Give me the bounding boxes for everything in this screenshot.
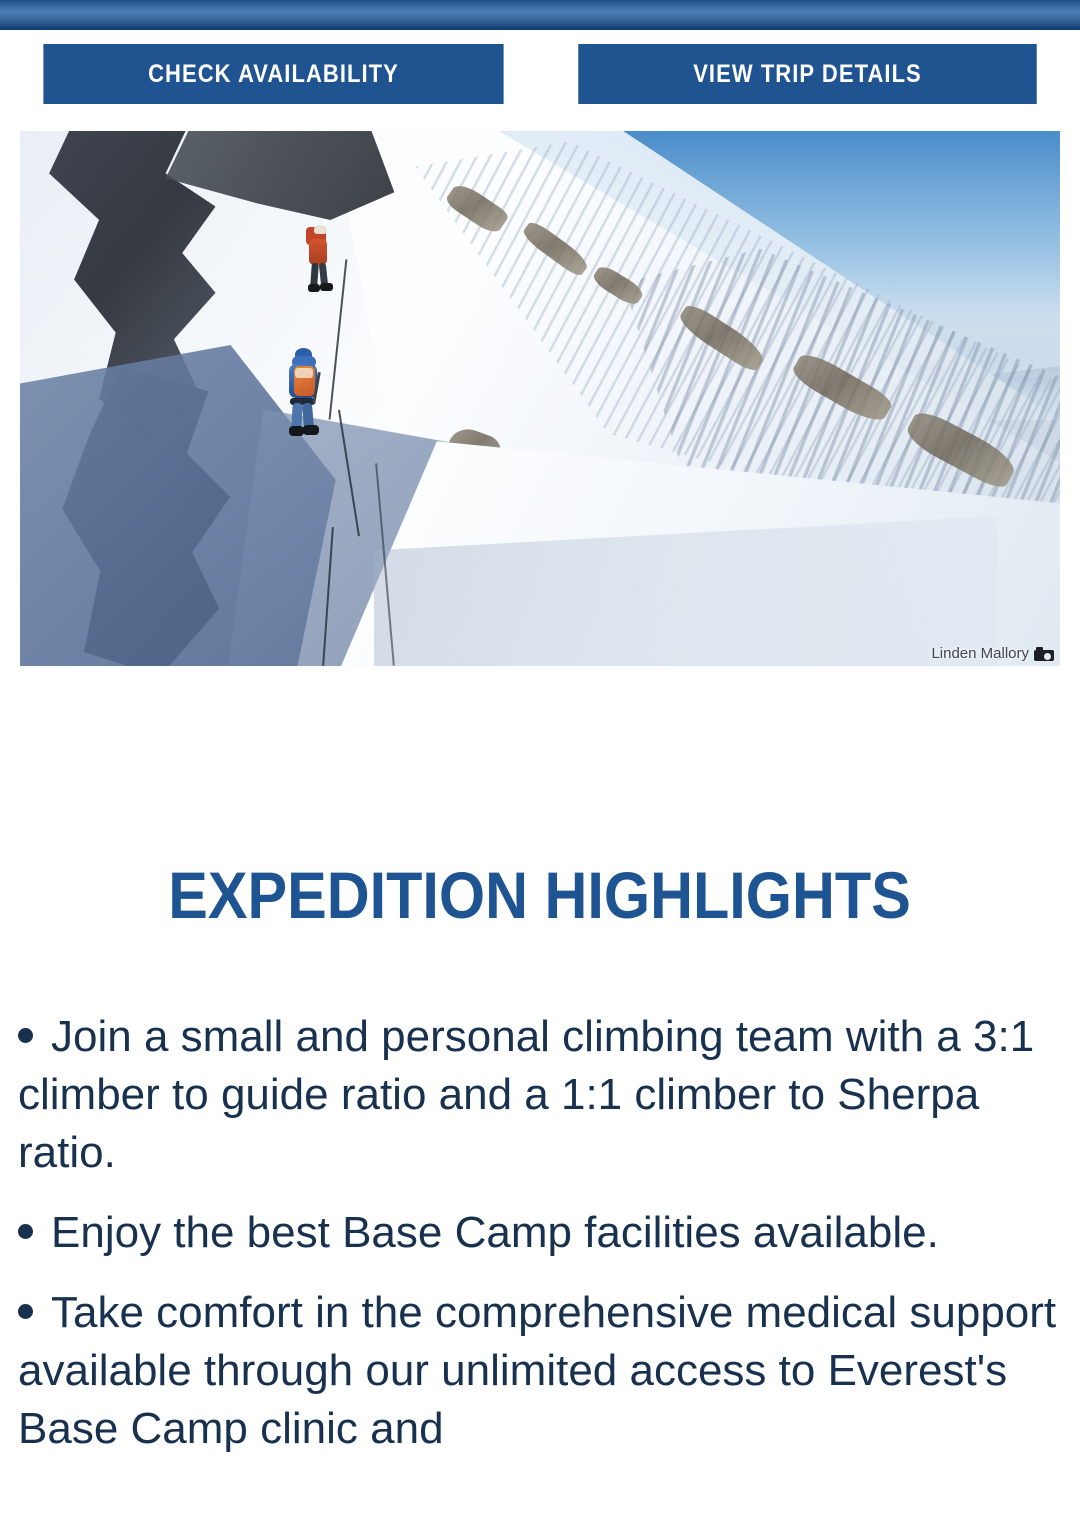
site-header-bar-shadow — [0, 27, 1080, 30]
check-availability-label: CHECK AVAILABILITY — [148, 60, 399, 89]
hero-photo: Linden Mallory — [20, 131, 1060, 666]
camera-icon — [1034, 647, 1054, 661]
page-title-text: EXPEDITION HIGHLIGHTS — [169, 862, 912, 928]
climber-boot — [289, 426, 304, 436]
list-item-text: Take comfort in the comprehensive medica… — [18, 1288, 1056, 1453]
list-item-text: Join a small and personal climbing team … — [18, 1012, 1034, 1177]
cta-button-row: CHECK AVAILABILITY VIEW TRIP DETAILS — [0, 44, 1080, 104]
climber-boot — [303, 425, 319, 435]
climber-boot — [320, 283, 333, 291]
climber-leg — [291, 402, 302, 428]
list-item: Join a small and personal climbing team … — [18, 1008, 1062, 1182]
view-trip-details-label: VIEW TRIP DETAILS — [693, 60, 922, 89]
climber-jacket — [309, 239, 327, 265]
expedition-highlights-list: Join a small and personal climbing team … — [0, 1008, 1080, 1480]
climber-helmet — [314, 225, 327, 234]
climber-boot — [308, 284, 320, 292]
lower-climber — [282, 348, 326, 440]
list-item-text: Enjoy the best Base Camp facilities avai… — [51, 1208, 939, 1257]
upper-climber — [303, 225, 337, 295]
bullet-dot-icon — [18, 1224, 33, 1239]
bullet-dot-icon — [18, 1028, 33, 1043]
photo-credit: Linden Mallory — [931, 645, 1054, 662]
bullet-dot-icon — [18, 1304, 33, 1319]
site-header-bar — [0, 0, 1080, 27]
check-availability-button[interactable]: CHECK AVAILABILITY — [43, 44, 503, 104]
list-item: Enjoy the best Base Camp facilities avai… — [18, 1204, 1062, 1262]
list-item: Take comfort in the comprehensive medica… — [18, 1284, 1062, 1458]
page-title: EXPEDITION HIGHLIGHTS — [0, 862, 1080, 928]
view-trip-details-button[interactable]: VIEW TRIP DETAILS — [578, 44, 1036, 104]
hero-photo-canvas: Linden Mallory — [20, 131, 1060, 666]
climber-backpack-lid — [295, 368, 313, 378]
photo-credit-name: Linden Mallory — [931, 645, 1029, 662]
